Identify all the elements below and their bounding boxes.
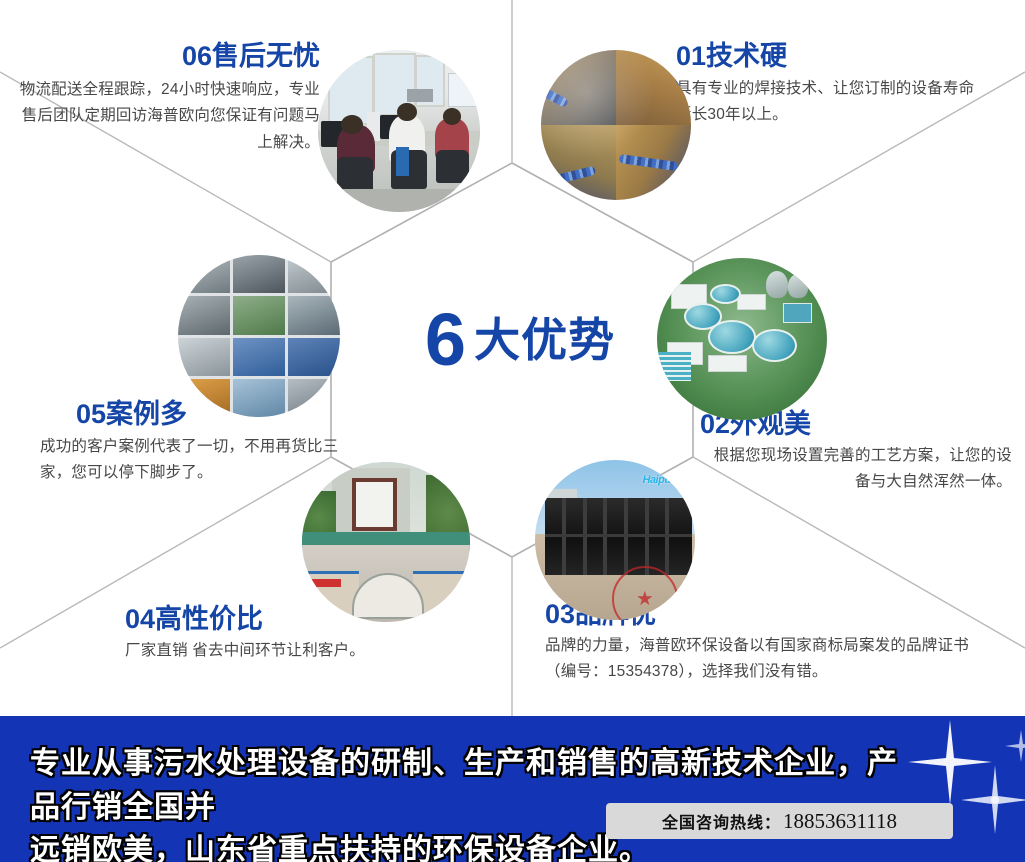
infographic-page: 6 大优势 06售后无忧 物流配送全程跟踪，24小时快速响应，专业售后团队定期回… <box>0 0 1025 862</box>
hotline-number: 18853631118 <box>783 809 897 834</box>
feature-06: 06售后无忧 物流配送全程跟踪，24小时快速响应，专业售后团队定期回访海普欧向您… <box>10 42 320 157</box>
feature-02-body: 根据您现场设置完善的工艺方案，让您的设备与大自然浑然一体。 <box>700 443 1012 496</box>
center-title: 6 大优势 <box>375 295 665 385</box>
hotline-box[interactable]: 全国咨询热线： 18853631118 <box>606 803 953 839</box>
feature-06-photo-office-staff <box>318 50 480 212</box>
bottom-banner: 专业从事污水处理设备的研制、生产和销售的高新技术企业，产品行销全国并 远销欧美，… <box>0 716 1025 862</box>
feature-01: 01技术硬 具有专业的焊接技术、让您订制的设备寿命延长30年以上。 <box>676 42 976 129</box>
feature-06-title: 06售后无忧 <box>10 42 320 72</box>
center-number: 6 <box>425 303 464 377</box>
feature-03-body: 品牌的力量，海普欧环保设备以有国家商标局案发的品牌证书（编号：15354378）… <box>545 633 975 686</box>
feature-05-photo-case-grid <box>178 255 340 417</box>
feature-02-photo-aerial-plant <box>657 258 827 420</box>
center-label-text: 大优势 <box>474 317 615 363</box>
feature-02: 02外观美 根据您现场设置完善的工艺方案，让您的设备与大自然浑然一体。 <box>700 410 1012 496</box>
hotline-label: 全国咨询热线： <box>662 809 781 833</box>
feature-03-photo-black-tank: Haipuou <box>535 460 695 620</box>
banner-text: 专业从事污水处理设备的研制、生产和销售的高新技术企业，产品行销全国并 远销欧美，… <box>30 742 910 862</box>
feature-05-body: 成功的客户案例代表了一切，不用再货比三家，您可以停下脚步了。 <box>40 434 340 487</box>
feature-01-body: 具有专业的焊接技术、让您订制的设备寿命延长30年以上。 <box>676 76 976 129</box>
feature-06-body: 物流配送全程跟踪，24小时快速响应，专业售后团队定期回访海普欧向您保证有问题马上… <box>10 77 320 157</box>
feature-04-body: 厂家直销 省去中间环节让利客户。 <box>125 638 455 665</box>
feature-01-photo-welding-pipes <box>541 50 691 200</box>
feature-03-watermark: Haipuou <box>643 474 684 486</box>
feature-01-title: 01技术硬 <box>676 42 976 72</box>
